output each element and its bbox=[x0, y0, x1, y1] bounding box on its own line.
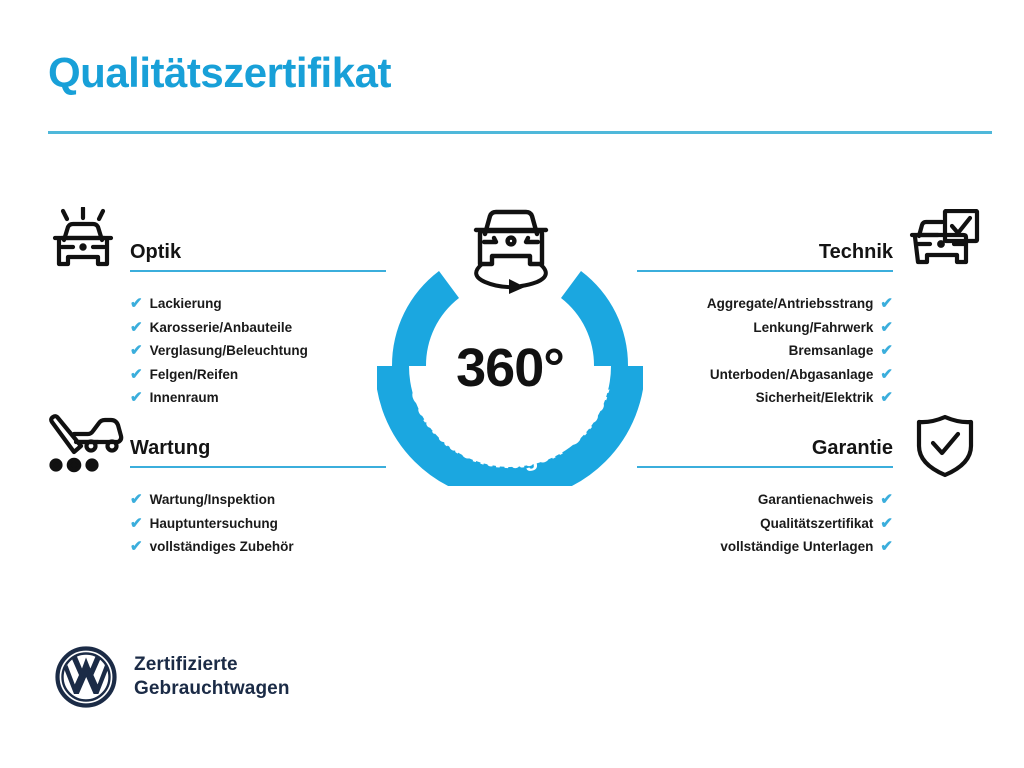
check-icon: ✔ bbox=[880, 320, 893, 335]
car-front-rotate-icon bbox=[463, 196, 559, 296]
section-technik: Technik Aggregate/Antriebsstrang✔ Lenkun… bbox=[637, 238, 893, 410]
list-item: Bremsanlage✔ bbox=[637, 339, 893, 363]
check-icon: ✔ bbox=[880, 516, 893, 531]
list-item: ✔Lackierung bbox=[130, 292, 386, 316]
check-icon: ✔ bbox=[880, 367, 893, 382]
section-divider bbox=[130, 466, 386, 468]
list-item-label: Aggregate/Antriebsstrang bbox=[707, 292, 874, 316]
check-icon: ✔ bbox=[130, 390, 143, 405]
list-item-label: Felgen/Reifen bbox=[150, 363, 239, 387]
list-item: ✔Felgen/Reifen bbox=[130, 363, 386, 387]
list-item-label: Sicherheit/Elektrik bbox=[756, 386, 874, 410]
check-icon: ✔ bbox=[130, 296, 143, 311]
360-check-badge: Gebrauchtwagen-Check 360° bbox=[377, 196, 643, 486]
list-item: Lenkung/Fahrwerk✔ bbox=[637, 316, 893, 340]
list-item-label: vollständiges Zubehör bbox=[150, 535, 294, 559]
list-item: ✔Hauptuntersuchung bbox=[130, 512, 386, 536]
list-item-label: Wartung/Inspektion bbox=[150, 488, 276, 512]
list-item: Unterboden/Abgasanlage✔ bbox=[637, 363, 893, 387]
check-icon: ✔ bbox=[130, 492, 143, 507]
list-item: Aggregate/Antriebsstrang✔ bbox=[637, 292, 893, 316]
vw-wordmark-line2: Gebrauchtwagen bbox=[134, 677, 290, 701]
section-divider bbox=[637, 466, 893, 468]
check-icon: ✔ bbox=[880, 492, 893, 507]
section-garantie: Garantie Garantienachweis✔ Qualitätszert… bbox=[637, 434, 893, 559]
checklist-wartung: ✔Wartung/Inspektion ✔Hauptuntersuchung ✔… bbox=[130, 488, 386, 559]
page-title: Qualitätszertifikat bbox=[48, 52, 391, 94]
volkswagen-logo bbox=[55, 646, 117, 708]
list-item-label: Hauptuntersuchung bbox=[150, 512, 278, 536]
check-icon: ✔ bbox=[130, 367, 143, 382]
vw-wordmark-line1: Zertifizierte bbox=[134, 653, 290, 677]
list-item: ✔vollständiges Zubehör bbox=[130, 535, 386, 559]
list-item: Garantienachweis✔ bbox=[637, 488, 893, 512]
degrees-label: 360° bbox=[377, 341, 643, 395]
list-item-label: Innenraum bbox=[150, 386, 219, 410]
list-item-label: Unterboden/Abgasanlage bbox=[710, 363, 874, 387]
section-divider bbox=[130, 270, 386, 272]
list-item-label: Qualitätszertifikat bbox=[760, 512, 873, 536]
checklist-optik: ✔Lackierung ✔Karosserie/Anbauteile ✔Verg… bbox=[130, 292, 386, 410]
list-item: ✔Karosserie/Anbauteile bbox=[130, 316, 386, 340]
section-divider bbox=[637, 270, 893, 272]
list-item-label: Garantienachweis bbox=[758, 488, 874, 512]
section-optik: Optik ✔Lackierung ✔Karosserie/Anbauteile… bbox=[130, 238, 386, 410]
list-item: vollständige Unterlagen✔ bbox=[637, 535, 893, 559]
shield-check-icon bbox=[915, 414, 975, 483]
car-checkbox-icon bbox=[908, 209, 980, 276]
check-icon: ✔ bbox=[130, 343, 143, 358]
list-item-label: Lenkung/Fahrwerk bbox=[753, 316, 873, 340]
list-item: ✔Wartung/Inspektion bbox=[130, 488, 386, 512]
wrench-car-icon bbox=[46, 414, 126, 479]
list-item-label: Bremsanlage bbox=[789, 339, 874, 363]
volkswagen-lockup: Zertifizierte Gebrauchtwagen bbox=[55, 646, 290, 708]
section-wartung: Wartung ✔Wartung/Inspektion ✔Hauptunters… bbox=[130, 434, 386, 559]
section-title: Optik bbox=[130, 238, 386, 266]
list-item-label: Karosserie/Anbauteile bbox=[150, 316, 293, 340]
section-header: Garantie bbox=[637, 434, 893, 474]
list-item: Qualitätszertifikat✔ bbox=[637, 512, 893, 536]
check-icon: ✔ bbox=[880, 390, 893, 405]
section-header: Wartung bbox=[130, 434, 386, 474]
check-icon: ✔ bbox=[880, 539, 893, 554]
check-icon: ✔ bbox=[130, 516, 143, 531]
section-title: Garantie bbox=[637, 434, 893, 462]
check-icon: ✔ bbox=[880, 296, 893, 311]
list-item: ✔Innenraum bbox=[130, 386, 386, 410]
checklist-garantie: Garantienachweis✔ Qualitätszertifikat✔ v… bbox=[637, 488, 893, 559]
list-item: ✔Verglasung/Beleuchtung bbox=[130, 339, 386, 363]
list-item-label: Verglasung/Beleuchtung bbox=[150, 339, 308, 363]
check-icon: ✔ bbox=[130, 539, 143, 554]
vw-wordmark: Zertifizierte Gebrauchtwagen bbox=[134, 653, 290, 701]
checklist-technik: Aggregate/Antriebsstrang✔ Lenkung/Fahrwe… bbox=[637, 292, 893, 410]
car-shine-icon bbox=[46, 207, 120, 278]
section-title: Technik bbox=[637, 238, 893, 266]
title-divider bbox=[48, 131, 992, 134]
section-header: Technik bbox=[637, 238, 893, 278]
section-title: Wartung bbox=[130, 434, 386, 462]
list-item-label: vollständige Unterlagen bbox=[720, 535, 873, 559]
list-item-label: Lackierung bbox=[150, 292, 222, 316]
section-header: Optik bbox=[130, 238, 386, 278]
check-icon: ✔ bbox=[880, 343, 893, 358]
check-icon: ✔ bbox=[130, 320, 143, 335]
list-item: Sicherheit/Elektrik✔ bbox=[637, 386, 893, 410]
